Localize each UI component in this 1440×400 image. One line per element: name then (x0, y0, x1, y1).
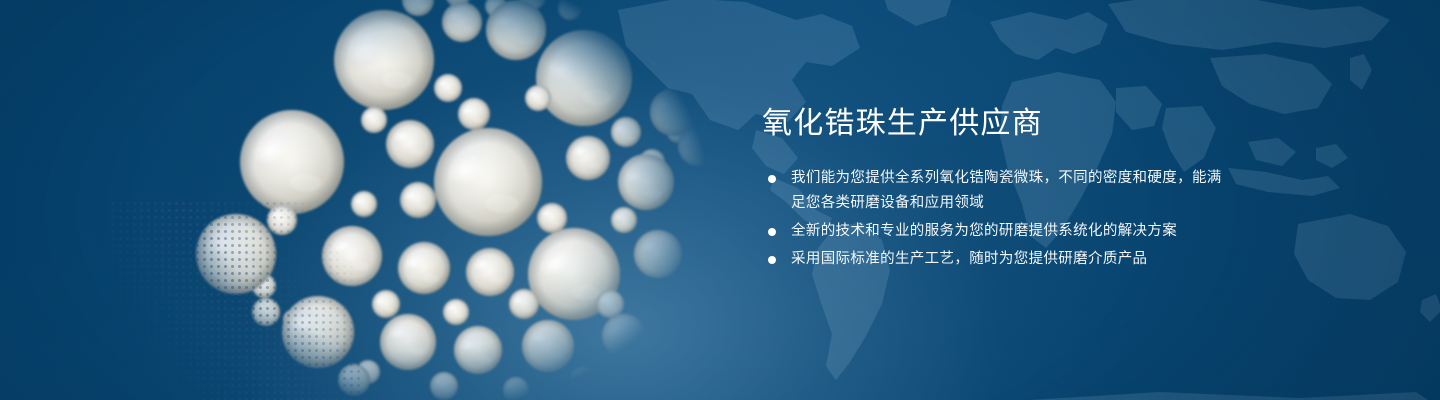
bullet-item-2: 全新的技术和专业的服务为您的研磨提供系统化的解决方案 (762, 219, 1232, 244)
bullet-dot-icon (768, 256, 776, 264)
bullet-dot-icon (768, 175, 776, 183)
bullet-dot-icon (768, 228, 776, 236)
banner-copy: 氧化锆珠生产供应商 我们能为您提供全系列氧化锆陶瓷微珠，不同的密度和硬度，能满足… (762, 104, 1232, 275)
hero-banner: 氧化锆珠生产供应商 我们能为您提供全系列氧化锆陶瓷微珠，不同的密度和硬度，能满足… (0, 0, 1440, 400)
banner-bullet-list: 我们能为您提供全系列氧化锆陶瓷微珠，不同的密度和硬度，能满足您各类研磨设备和应用… (762, 166, 1232, 272)
bullet-item-3: 采用国际标准的生产工艺，随时为您提供研磨介质产品 (762, 247, 1232, 272)
bullet-text-1: 我们能为您提供全系列氧化锆陶瓷微珠，不同的密度和硬度，能满足您各类研磨设备和应用… (791, 170, 1222, 211)
bullet-item-1: 我们能为您提供全系列氧化锆陶瓷微珠，不同的密度和硬度，能满足您各类研磨设备和应用… (762, 166, 1232, 216)
banner-headline: 氧化锆珠生产供应商 (762, 104, 1232, 144)
bullet-text-2: 全新的技术和专业的服务为您的研磨提供系统化的解决方案 (791, 223, 1177, 239)
bullet-text-3: 采用国际标准的生产工艺，随时为您提供研磨介质产品 (791, 251, 1147, 267)
